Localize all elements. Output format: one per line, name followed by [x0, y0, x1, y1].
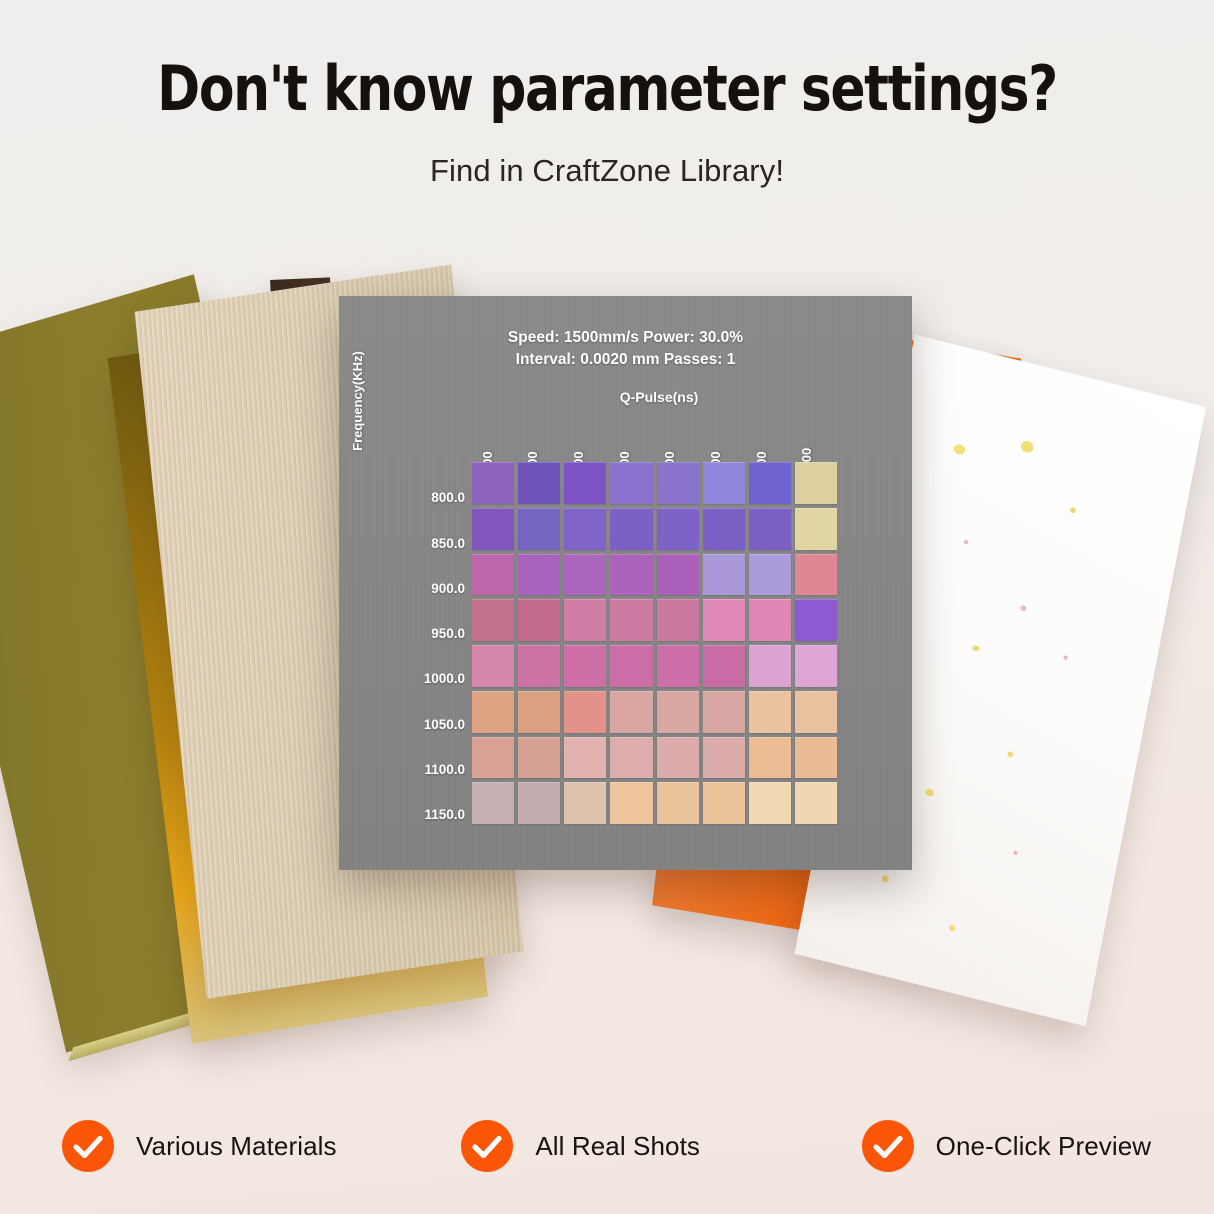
heatmap-cell[interactable] [703, 599, 745, 641]
y-tick-0: 800.0 [383, 462, 469, 507]
heatmap-cell[interactable] [657, 782, 699, 824]
y-tick-2: 900.0 [383, 553, 469, 598]
y-tick-7: 1150.0 [383, 779, 469, 824]
heatmap-cell[interactable] [657, 508, 699, 550]
parameter-test-chart-card: Speed: 1500mm/s Power: 30.0% Interval: 0… [339, 296, 912, 870]
heatmap-cell[interactable] [518, 645, 560, 687]
promo-page: Don't know parameter settings? Find in C… [0, 0, 1214, 1214]
feature-label: Various Materials [136, 1131, 337, 1162]
heatmap-cell[interactable] [472, 508, 514, 550]
heatmap-cell[interactable] [657, 599, 699, 641]
heatmap-cell[interactable] [795, 691, 837, 733]
heatmap-cell[interactable] [564, 508, 606, 550]
heatmap-cell[interactable] [518, 462, 560, 504]
heatmap-cell[interactable] [518, 737, 560, 779]
heatmap-cell[interactable] [472, 782, 514, 824]
heatmap-cell[interactable] [703, 737, 745, 779]
x-tick-1: 4.00 [518, 416, 564, 464]
y-tick-1: 850.0 [383, 507, 469, 552]
heatmap-cell[interactable] [795, 645, 837, 687]
heatmap-cell[interactable] [749, 737, 791, 779]
heatmap-cell[interactable] [795, 782, 837, 824]
heatmap-cell[interactable] [610, 599, 652, 641]
heatmap-cell[interactable] [749, 645, 791, 687]
heatmap-cell[interactable] [472, 645, 514, 687]
check-circle-icon [461, 1120, 513, 1172]
chart-parameter-title: Speed: 1500mm/s Power: 30.0% Interval: 0… [339, 327, 912, 371]
x-tick-5: 8.00 [700, 416, 746, 464]
heatmap-cell[interactable] [795, 737, 837, 779]
x-axis-title: Q-Pulse(ns) [469, 389, 849, 405]
heatmap-grid [472, 462, 837, 824]
heatmap-cell[interactable] [703, 645, 745, 687]
heatmap-cell[interactable] [518, 691, 560, 733]
heatmap-cell[interactable] [703, 554, 745, 596]
heatmap-cell[interactable] [749, 462, 791, 504]
heatmap-cell[interactable] [795, 554, 837, 596]
feature-list: Various MaterialsAll Real ShotsOne-Click… [0, 1120, 1214, 1172]
heatmap-cell[interactable] [610, 645, 652, 687]
heatmap-cell[interactable] [749, 599, 791, 641]
heatmap-cell[interactable] [657, 645, 699, 687]
heatmap-cell[interactable] [610, 508, 652, 550]
y-tick-4: 1000.0 [383, 643, 469, 688]
heatmap-cell[interactable] [795, 508, 837, 550]
feature-item: Various Materials [0, 1120, 414, 1172]
heatmap-cell[interactable] [564, 691, 606, 733]
heatmap-cell[interactable] [610, 691, 652, 733]
heatmap-cell[interactable] [564, 554, 606, 596]
y-tick-5: 1050.0 [383, 688, 469, 733]
feature-item: One-Click Preview [814, 1120, 1214, 1172]
heatmap-cell[interactable] [518, 782, 560, 824]
heatmap-cell[interactable] [703, 782, 745, 824]
y-tick-6: 1100.0 [383, 734, 469, 779]
check-circle-icon [862, 1120, 914, 1172]
heatmap-cell[interactable] [610, 782, 652, 824]
heatmap-cell[interactable] [703, 462, 745, 504]
heatmap-cell[interactable] [472, 599, 514, 641]
heatmap-cell[interactable] [703, 508, 745, 550]
check-circle-icon [62, 1120, 114, 1172]
heatmap-cell[interactable] [657, 737, 699, 779]
heatmap-cell[interactable] [749, 782, 791, 824]
heatmap-cell[interactable] [472, 737, 514, 779]
heatmap-cell[interactable] [564, 645, 606, 687]
heatmap-cell[interactable] [795, 599, 837, 641]
feature-label: All Real Shots [535, 1131, 700, 1162]
heatmap-cell[interactable] [518, 554, 560, 596]
heatmap-cell[interactable] [518, 508, 560, 550]
x-axis-tick-labels: 3.004.005.006.007.008.009.0010.00 [472, 416, 837, 464]
x-tick-3: 6.00 [609, 416, 655, 464]
feature-label: One-Click Preview [936, 1131, 1152, 1162]
x-tick-0: 3.00 [472, 416, 518, 464]
y-axis-tick-labels: 800.0850.0900.0950.01000.01050.01100.011… [383, 462, 469, 824]
heatmap-cell[interactable] [610, 737, 652, 779]
x-tick-4: 7.00 [655, 416, 701, 464]
heatmap-cell[interactable] [564, 599, 606, 641]
heatmap-cell[interactable] [472, 462, 514, 504]
y-axis-title: Frequency(KHz) [350, 311, 365, 491]
heatmap-cell[interactable] [518, 599, 560, 641]
heatmap-cell[interactable] [564, 737, 606, 779]
heatmap-cell[interactable] [703, 691, 745, 733]
heatmap-cell[interactable] [610, 462, 652, 504]
heatmap-cell[interactable] [657, 462, 699, 504]
x-tick-7: 10.00 [791, 416, 837, 464]
heatmap-cell[interactable] [749, 508, 791, 550]
heatmap-cell[interactable] [472, 554, 514, 596]
heatmap-cell[interactable] [749, 691, 791, 733]
heatmap-cell[interactable] [749, 554, 791, 596]
heatmap-cell[interactable] [472, 691, 514, 733]
heatmap-cell[interactable] [657, 554, 699, 596]
heatmap-cell[interactable] [564, 462, 606, 504]
heatmap-cell[interactable] [610, 554, 652, 596]
x-tick-2: 5.00 [563, 416, 609, 464]
x-tick-6: 9.00 [746, 416, 792, 464]
heatmap-cell[interactable] [795, 462, 837, 504]
feature-item: All Real Shots [414, 1120, 813, 1172]
heatmap-cell[interactable] [564, 782, 606, 824]
y-tick-3: 950.0 [383, 598, 469, 643]
heatmap-cell[interactable] [657, 691, 699, 733]
